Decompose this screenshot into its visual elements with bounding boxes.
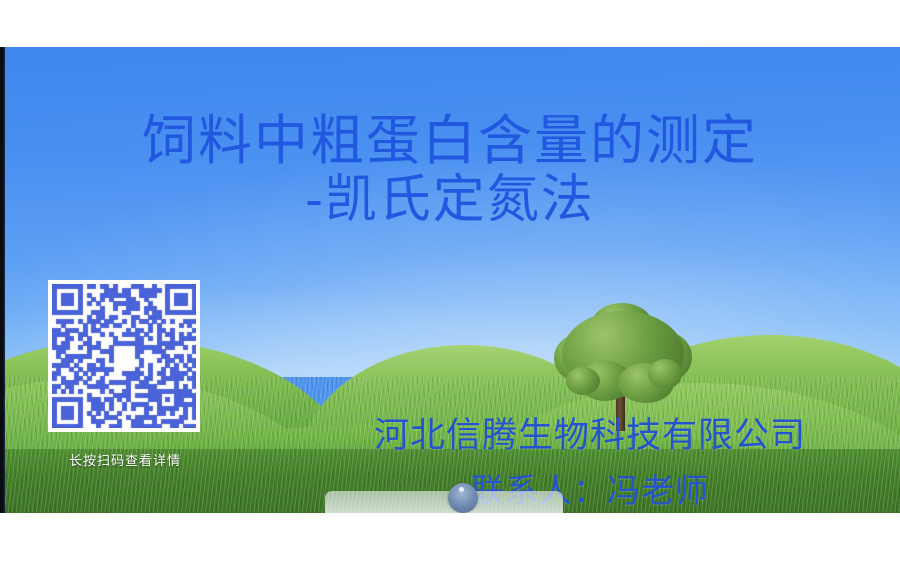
loading-spinner-icon[interactable]	[448, 483, 478, 513]
bottom-letterbox	[0, 513, 900, 561]
qr-block[interactable]: 长按扫码查看详情	[48, 280, 202, 469]
player-control-bar[interactable]	[325, 491, 563, 513]
tree-illustration	[548, 309, 698, 434]
tree-foliage	[566, 367, 600, 395]
tree-foliage	[648, 359, 682, 389]
page-root: 饲料中粗蛋白含量的测定 -凯氏定氮法 长按扫码查看详情 河北信腾生物科技有限公司…	[0, 0, 900, 561]
top-letterbox	[0, 0, 900, 47]
video-left-edge	[0, 47, 5, 513]
qr-caption: 长按扫码查看详情	[48, 450, 202, 469]
qr-code-image[interactable]	[48, 280, 200, 432]
spinner-highlight	[459, 487, 464, 492]
qr-code-canvas	[52, 284, 196, 428]
video-stage[interactable]: 饲料中粗蛋白含量的测定 -凯氏定氮法 长按扫码查看详情 河北信腾生物科技有限公司…	[0, 47, 900, 513]
